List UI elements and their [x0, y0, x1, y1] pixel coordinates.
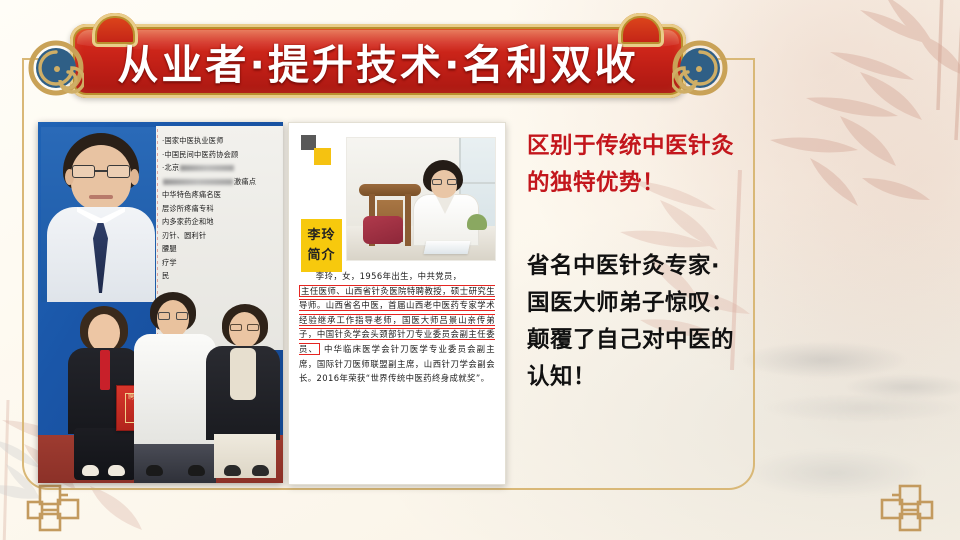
banner-spiral-ornament-right-icon — [672, 40, 728, 96]
photo-subjects: 聘书 — [38, 268, 283, 483]
lattice-corner-bottom-right-icon — [864, 478, 936, 534]
profile-photo — [346, 137, 496, 261]
screen-line: ·国家中医执业医师 — [162, 134, 278, 148]
decor-square-yellow — [314, 148, 331, 165]
badge-line-1: 李玲 — [307, 226, 335, 246]
page-title: 从业者·提升技术·名利双收 — [70, 24, 686, 98]
screen-line: 激痛点 — [162, 175, 278, 189]
profile-biography: 李玲，女，1956年出生，中共党员， 主任医师、山西省针灸医院特聘教授，硕士研究… — [299, 269, 495, 386]
right-text-column: 区别于传统中医针灸的独特优势！ 省名中医针灸专家·国医大师弟子惊叹：颠覆了自己对… — [527, 128, 742, 396]
screen-line: ·北京 — [162, 161, 278, 175]
ink-wash-mountain — [720, 300, 960, 450]
slide-canvas: 从业者·提升技术·名利双收 ·国家中医执业医师 ·中国民间中医药协会顾 ·北京 … — [0, 0, 960, 540]
banner-spiral-ornament-left-icon — [28, 40, 84, 96]
decor-squares — [301, 135, 335, 165]
frame-notch-right — [753, 110, 755, 120]
title-banner: 从业者·提升技术·名利双收 — [28, 24, 728, 98]
bio-intro: 李玲，女，1956年出生，中共党员， — [299, 269, 495, 284]
group-photo: ·国家中医执业医师 ·中国民间中医药协会顾 ·北京 激痛点 中华特色疼痛名医 层… — [38, 122, 283, 483]
highlight-heading: 区别于传统中医针灸的独特优势！ — [527, 128, 742, 202]
lattice-corner-bottom-left-icon — [24, 478, 96, 534]
bio-rest: 中华临床医学会针刀医学专业委员会副主席，国际针刀医师联盟副主席，山西针刀学会副会… — [299, 344, 495, 383]
frame-notch-left — [22, 110, 24, 120]
screen-line: 层诊所疼痛专科 — [162, 202, 278, 216]
profile-name-badge: 李玲 简介 — [301, 219, 342, 272]
body-statement: 省名中医针灸专家·国医大师弟子惊叹：颠覆了自己对中医的认知！ — [527, 248, 742, 396]
screen-line: 内多家药企和地 — [162, 215, 278, 229]
screen-line: 腰腿 — [162, 242, 278, 256]
badge-line-2: 简介 — [307, 246, 335, 266]
screen-line: 中华特色疼痛名医 — [162, 188, 278, 202]
bamboo-decoration-top-right — [710, 0, 960, 230]
screen-line: 疗学 — [162, 256, 278, 270]
screen-line: ·中国民间中医药协会顾 — [162, 148, 278, 162]
profile-card: 李玲 简介 李玲，女，1956年出生，中共党员， 主任医师、山西省针灸医院特聘教… — [288, 122, 506, 485]
screen-line: 刃针、圆利针 — [162, 229, 278, 243]
